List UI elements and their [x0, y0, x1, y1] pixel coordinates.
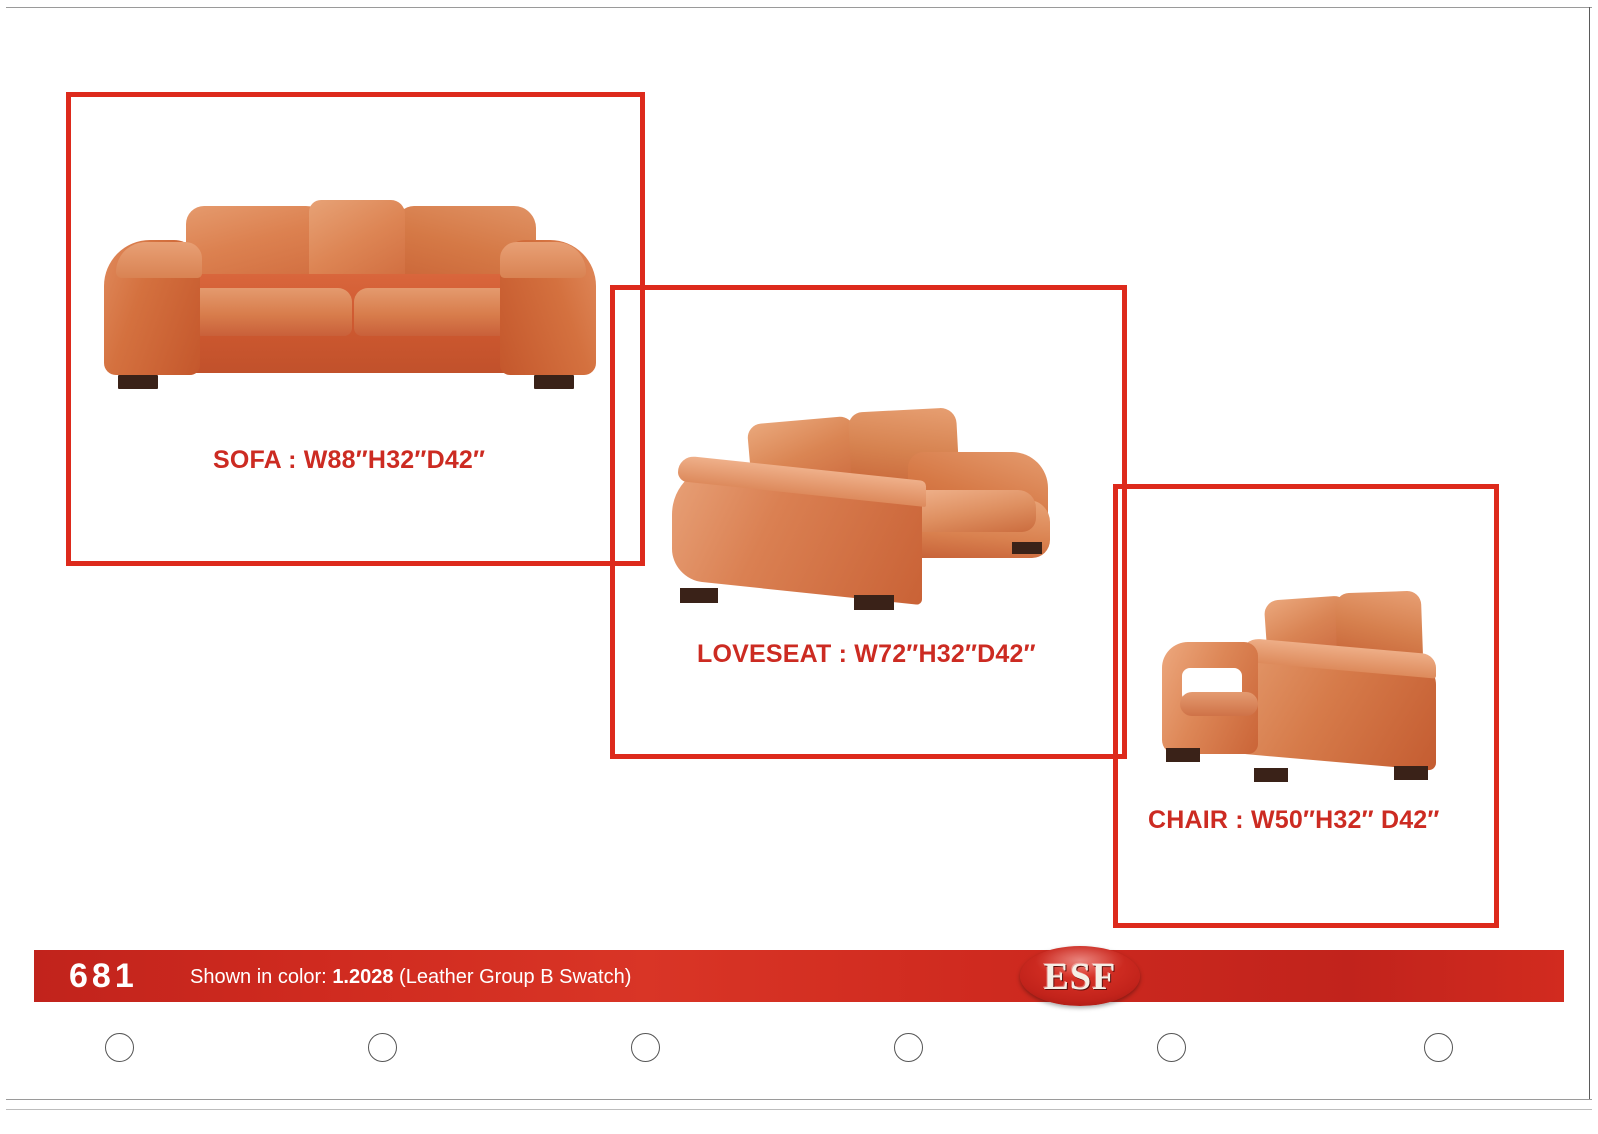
loveseat-foot-right: [854, 595, 894, 610]
chair-foot-right: [1394, 766, 1428, 780]
page-frame-bottom-line-2: [6, 1109, 1592, 1110]
catalog-page: SOFA : W88″H32″D42″ LOVESEAT : W72″H32″D…: [0, 0, 1598, 1134]
loveseat-foot-back: [1012, 542, 1042, 554]
sofa-caption: SOFA : W88″H32″D42″: [213, 446, 485, 475]
punch-hole-6: [1424, 1033, 1453, 1062]
sofa-foot-left: [118, 375, 158, 389]
punch-hole-4: [894, 1033, 923, 1062]
loveseat-illustration: [662, 390, 1057, 615]
chair-foot-middle: [1254, 768, 1288, 782]
chair-foot-left: [1166, 748, 1200, 762]
esf-logo: ESF: [1020, 946, 1140, 1006]
loveseat-foot-left: [680, 588, 718, 603]
model-code: 681: [69, 957, 138, 996]
chair-caption: CHAIR : W50″H32″ D42″: [1148, 806, 1440, 835]
color-code: 1.2028: [332, 966, 393, 988]
leather-group: (Leather Group B Swatch): [399, 966, 631, 988]
shown-in-color-text: Shown in color: 1.2028 (Leather Group B …: [190, 966, 631, 989]
sofa-foot-right: [534, 375, 574, 389]
page-frame-right-line: [1589, 7, 1590, 1100]
chair-illustration: [1158, 580, 1458, 785]
punch-hole-1: [105, 1033, 134, 1062]
punch-hole-5: [1157, 1033, 1186, 1062]
chair-seat-roll: [1180, 692, 1258, 716]
punch-hole-2: [368, 1033, 397, 1062]
footer-bar: 681 Shown in color: 1.2028 (Leather Grou…: [34, 950, 1564, 1002]
sofa-arm-left-top: [116, 242, 202, 278]
sofa-arm-right-top: [500, 242, 586, 278]
sofa-illustration: [96, 192, 602, 395]
esf-logo-text: ESF: [1044, 958, 1117, 996]
sofa-seat-cushion-left: [174, 288, 352, 336]
loveseat-caption: LOVESEAT : W72″H32″D42″: [697, 640, 1036, 669]
page-frame-top-line: [6, 7, 1592, 8]
punch-hole-3: [631, 1033, 660, 1062]
shown-in-label: Shown in color:: [190, 966, 327, 988]
page-frame-bottom-line: [6, 1099, 1592, 1100]
